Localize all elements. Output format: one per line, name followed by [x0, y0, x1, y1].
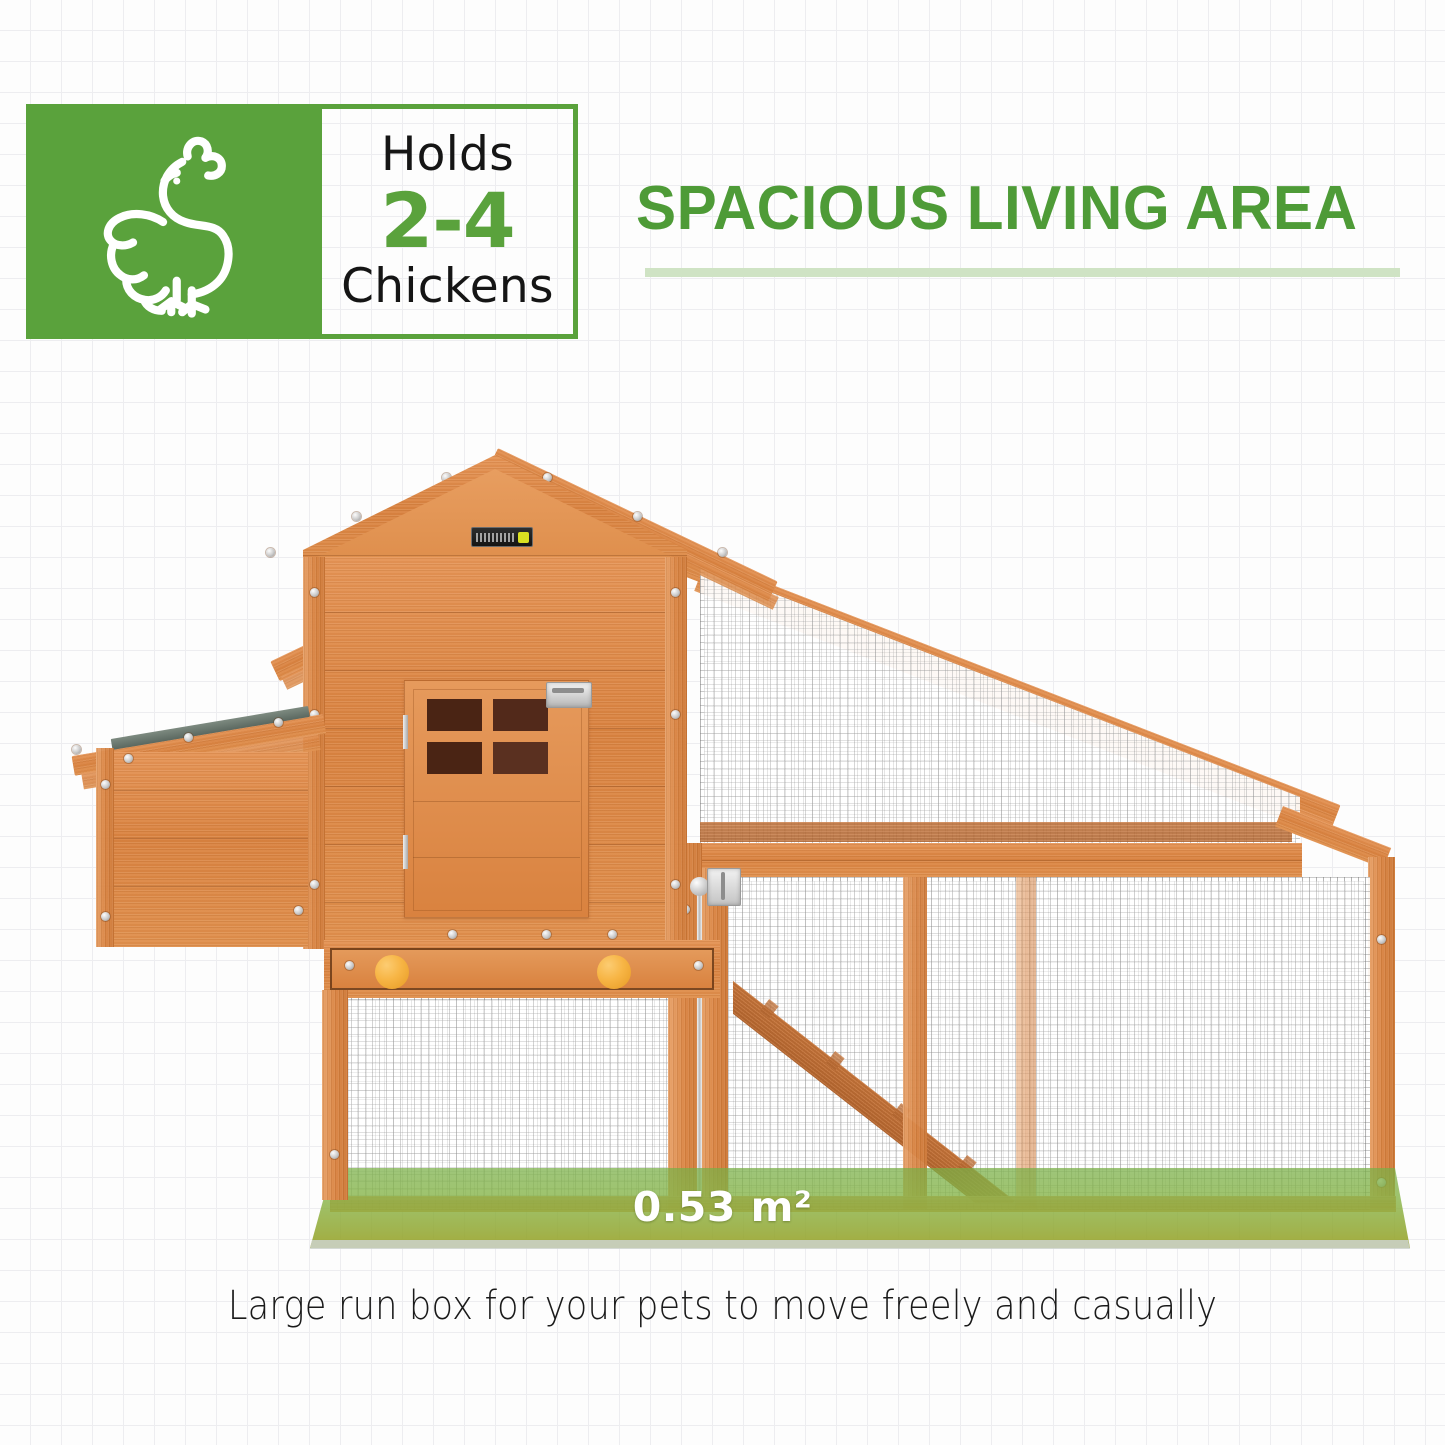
tray-knob-right[interactable] [597, 955, 631, 989]
marketing-slide: 0.53 m² [0, 0, 1445, 1445]
coop-leg-left [322, 990, 348, 1200]
coop-door[interactable] [404, 680, 589, 918]
coop-right-stile [665, 557, 687, 949]
door-hinge-top [403, 715, 408, 749]
run-interior-post-right [1016, 877, 1036, 1209]
door-window [427, 699, 551, 777]
run-perch-bar [700, 822, 1292, 842]
run-ramp [733, 953, 1053, 1203]
tray-knob-left[interactable] [375, 955, 409, 989]
door-hinge-bottom [403, 835, 408, 869]
brand-logo-badge [471, 527, 533, 547]
badge-line-1: Holds [381, 131, 514, 178]
badge-count: 2-4 [380, 178, 514, 263]
page-title: SPACIOUS LIVING AREA [636, 178, 1402, 240]
floor-area-front-edge [310, 1240, 1410, 1249]
run-right-post [1368, 857, 1395, 1209]
run-upper-mesh [700, 565, 1300, 865]
capacity-badge: Holds 2-4 Chickens [26, 104, 578, 339]
nesting-box-wall [96, 752, 308, 947]
badge-text-panel: Holds 2-4 Chickens [322, 104, 578, 339]
gate-latch-rod[interactable] [697, 880, 702, 1195]
run-interior-post-left [903, 877, 927, 1209]
door-latch[interactable] [546, 682, 592, 708]
badge-icon-panel [26, 104, 322, 339]
run-gate-stile [700, 868, 728, 1209]
badge-line-3: Chickens [341, 263, 554, 310]
caption-text: Large run box for your pets to move free… [87, 1283, 1359, 1329]
logo-dot-icon [518, 532, 529, 543]
logo-wordmark [476, 533, 516, 542]
chicken-icon [92, 124, 256, 320]
floor-area-label: 0.53 m² [0, 1183, 1445, 1231]
title-underline [645, 268, 1400, 277]
